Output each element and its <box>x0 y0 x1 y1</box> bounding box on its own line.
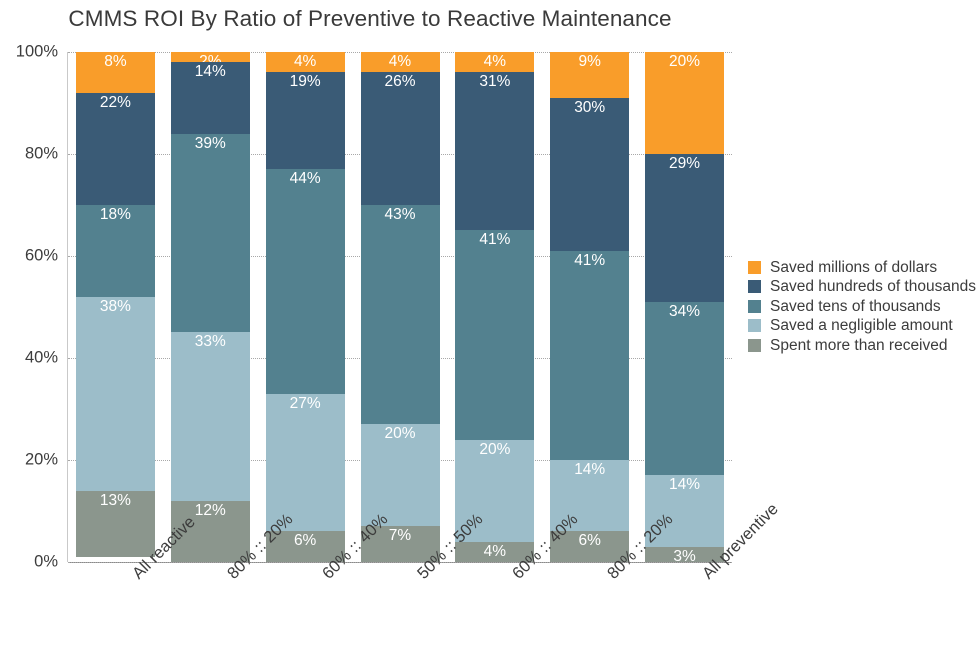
chart-title: CMMS ROI By Ratio of Preventive to React… <box>0 6 740 32</box>
bar-segment-label: 43% <box>361 207 440 223</box>
bar-segment[interactable]: 14% <box>171 62 250 133</box>
bar-segment[interactable]: 29% <box>645 154 724 302</box>
y-axis-tick-label: 60% <box>0 247 58 266</box>
bar-segment[interactable]: 22% <box>76 93 155 205</box>
legend-item[interactable]: Saved tens of thousands <box>748 297 980 316</box>
bar-segment-label: 14% <box>171 64 250 80</box>
legend-label: Saved a negligible amount <box>770 318 953 334</box>
y-axis-tick-label: 80% <box>0 145 58 164</box>
bar-segment[interactable]: 8% <box>76 52 155 93</box>
bar-segment-label: 20% <box>455 442 534 458</box>
stacked-bar[interactable]: 20%29%34%14%3% <box>645 52 724 562</box>
bar-segment[interactable]: 18% <box>76 205 155 297</box>
y-axis-tick-label: 40% <box>0 349 58 368</box>
x-axis-tick-label: All preventive <box>699 570 712 583</box>
bar-segment-label: 4% <box>455 54 534 70</box>
bar-segment-label: 41% <box>550 253 629 269</box>
y-axis-tick-label: 100% <box>0 43 58 62</box>
x-axis-tick-label: All reactive <box>129 570 142 583</box>
bar-segment-label: 39% <box>171 136 250 152</box>
bar-segment[interactable]: 41% <box>550 251 629 460</box>
legend-swatch-icon <box>748 339 761 352</box>
legend-swatch-icon <box>748 261 761 274</box>
bar-segment[interactable]: 26% <box>361 72 440 205</box>
stacked-bar[interactable]: 8%22%18%38%13% <box>76 52 155 562</box>
bar-segment-label: 18% <box>76 207 155 223</box>
bar-segment-label: 22% <box>76 95 155 111</box>
bar-segment[interactable]: 27% <box>266 394 345 532</box>
bar-segment[interactable]: 38% <box>76 297 155 491</box>
bar-segment-label: 4% <box>361 54 440 70</box>
legend-label: Spent more than received <box>770 338 948 354</box>
bar-segment-label: 19% <box>266 74 345 90</box>
bar-segment[interactable]: 34% <box>645 302 724 475</box>
bar-segment-label: 30% <box>550 100 629 116</box>
chart-legend: Saved millions of dollarsSaved hundreds … <box>748 258 980 356</box>
stacked-bar[interactable]: 4%31%41%20%4% <box>455 52 534 562</box>
bar-segment[interactable]: 4% <box>361 52 440 72</box>
bar-segment[interactable]: 30% <box>550 98 629 251</box>
bar-segment[interactable]: 31% <box>455 72 534 230</box>
bar-segment-label: 14% <box>550 462 629 478</box>
bar-segment-label: 13% <box>76 493 155 509</box>
legend-item[interactable]: Saved hundreds of thousands <box>748 278 980 297</box>
bar-segment[interactable]: 41% <box>455 230 534 439</box>
bar-segment-label: 9% <box>550 54 629 70</box>
bar-segment[interactable]: 13% <box>76 491 155 557</box>
bar-group[interactable]: 20%29%34%14%3% <box>645 52 724 562</box>
y-axis-line <box>67 52 68 562</box>
bar-segment-label: 33% <box>171 334 250 350</box>
legend-label: Saved tens of thousands <box>770 299 941 315</box>
legend-label: Saved hundreds of thousands <box>770 279 976 295</box>
bar-segment-label: 26% <box>361 74 440 90</box>
bar-segment[interactable]: 2% <box>171 52 250 62</box>
bar-segment-label: 34% <box>645 304 724 320</box>
legend-item[interactable]: Saved millions of dollars <box>748 258 980 277</box>
bar-group[interactable]: 4%19%44%27%6% <box>266 52 345 562</box>
x-axis-tick-label: 80% :: 20% <box>224 570 237 583</box>
legend-label: Saved millions of dollars <box>770 260 937 276</box>
chart-container: CMMS ROI By Ratio of Preventive to React… <box>0 0 980 662</box>
x-axis: All reactive80% :: 20%60% :: 40%50% :: 5… <box>68 562 732 662</box>
stacked-bar[interactable]: 4%26%43%20%7% <box>361 52 440 562</box>
bar-group[interactable]: 8%22%18%38%13% <box>76 52 155 562</box>
bar-segment[interactable]: 20% <box>645 52 724 154</box>
stacked-bar[interactable]: 4%19%44%27%6% <box>266 52 345 562</box>
bar-group[interactable]: 2%14%39%33%12% <box>171 52 250 562</box>
bar-segment[interactable]: 44% <box>266 169 345 393</box>
bar-group[interactable]: 4%31%41%20%4% <box>455 52 534 562</box>
legend-item[interactable]: Saved a negligible amount <box>748 317 980 336</box>
bar-segment[interactable]: 33% <box>171 332 250 500</box>
bar-segment-label: 8% <box>76 54 155 70</box>
x-axis-tick-label: 60% :: 40% <box>509 570 522 583</box>
y-axis-tick-label: 0% <box>0 553 58 572</box>
bar-segment-label: 44% <box>266 171 345 187</box>
bar-segment[interactable]: 43% <box>361 205 440 424</box>
bar-segment-label: 14% <box>645 477 724 493</box>
bar-segment-label: 38% <box>76 299 155 315</box>
x-axis-tick-label: 80% :: 20% <box>604 570 617 583</box>
bar-segment[interactable]: 4% <box>266 52 345 72</box>
stacked-bar[interactable]: 2%14%39%33%12% <box>171 52 250 562</box>
bar-segment[interactable]: 9% <box>550 52 629 98</box>
bar-group[interactable]: 4%26%43%20%7% <box>361 52 440 562</box>
bar-segment-label: 20% <box>645 54 724 70</box>
bar-segment-label: 31% <box>455 74 534 90</box>
bar-segment[interactable]: 19% <box>266 72 345 169</box>
stacked-bar[interactable]: 9%30%41%14%6% <box>550 52 629 562</box>
bar-segment-label: 20% <box>361 426 440 442</box>
y-axis-tick-label: 20% <box>0 451 58 470</box>
plot-area: 8%22%18%38%13%2%14%39%33%12%4%19%44%27%6… <box>68 52 732 562</box>
legend-swatch-icon <box>748 280 761 293</box>
bar-segment-label: 41% <box>455 232 534 248</box>
bar-group[interactable]: 9%30%41%14%6% <box>550 52 629 562</box>
bar-segment[interactable]: 20% <box>361 424 440 526</box>
legend-swatch-icon <box>748 300 761 313</box>
x-axis-tick-label: 60% :: 40% <box>319 570 332 583</box>
bar-segment[interactable]: 4% <box>455 52 534 72</box>
legend-swatch-icon <box>748 319 761 332</box>
bar-segment-label: 4% <box>266 54 345 70</box>
x-axis-tick-label: 50% :: 50% <box>414 570 427 583</box>
legend-item[interactable]: Spent more than received <box>748 336 980 355</box>
bar-segment-label: 29% <box>645 156 724 172</box>
y-axis: 0%20%40%60%80%100% <box>0 52 58 562</box>
bar-segment[interactable]: 39% <box>171 134 250 333</box>
bar-segment-label: 27% <box>266 396 345 412</box>
